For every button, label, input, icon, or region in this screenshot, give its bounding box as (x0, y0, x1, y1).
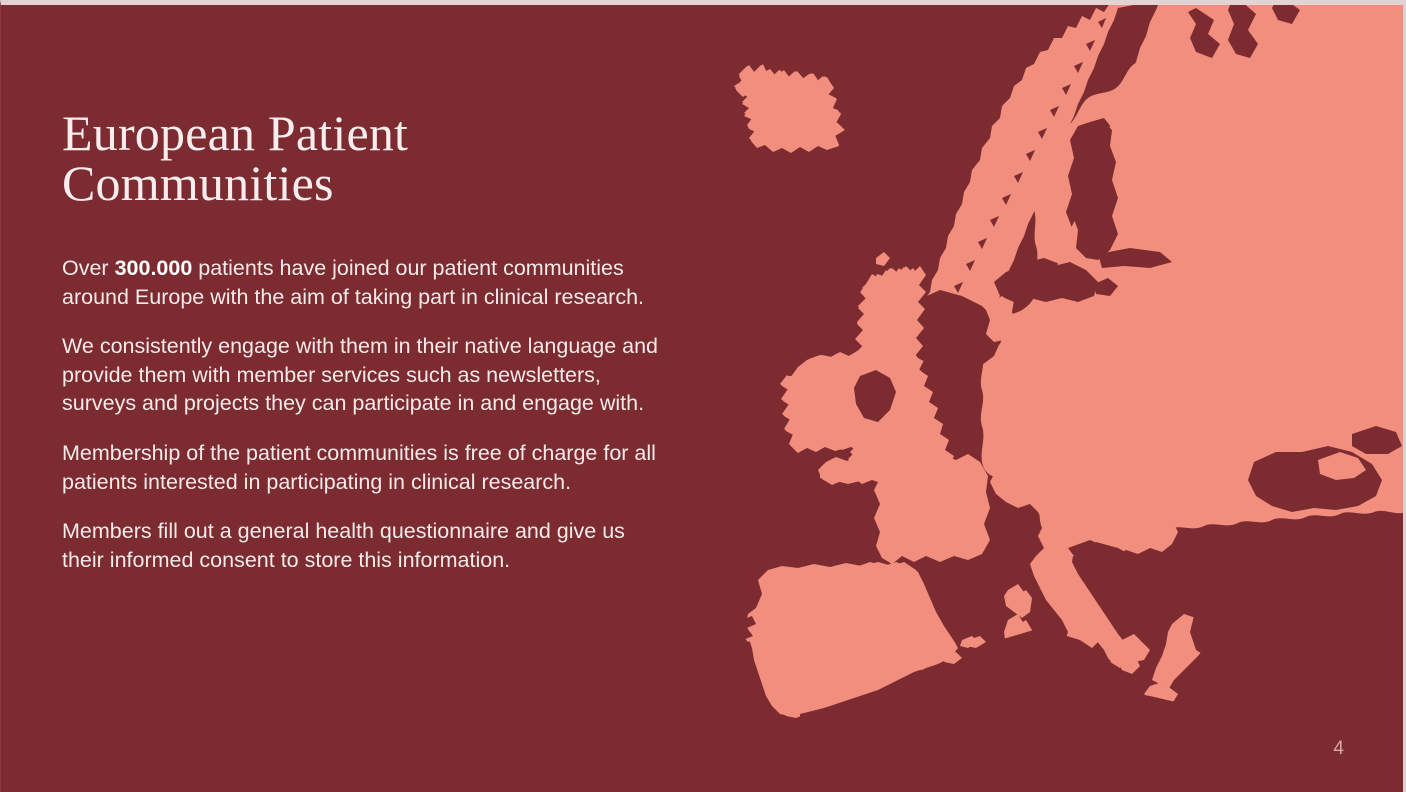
paragraph-1: Over 300.000 patients have joined our pa… (62, 254, 667, 311)
paragraph-3: Membership of the patient communities is… (62, 439, 667, 496)
paragraph-2: We consistently engage with them in thei… (62, 332, 667, 418)
aegean-sea (1190, 600, 1258, 660)
paragraph-4: Members fill out a general health questi… (62, 517, 667, 574)
paragraph-1-emphasis: 300.000 (115, 256, 193, 280)
scotland-isles (876, 252, 890, 266)
page-number: 4 (1333, 738, 1344, 760)
menorca-island (960, 636, 978, 648)
corsica-island (1004, 584, 1024, 612)
france-body (874, 454, 990, 564)
slide-european-patient-communities: European Patient Communities Over 300.00… (0, 0, 1406, 792)
europe-shapes-overlay (736, 0, 1406, 792)
paragraph-1-lead: Over (62, 256, 115, 280)
iberia-peninsula (746, 562, 956, 716)
body-copy: Over 300.000 patients have joined our pa… (62, 254, 672, 574)
denmark-islands (1014, 318, 1038, 338)
ireland-island (782, 352, 866, 453)
slide-content: European Patient Communities Over 300.00… (62, 108, 672, 574)
page-title: European Patient Communities (62, 108, 482, 208)
